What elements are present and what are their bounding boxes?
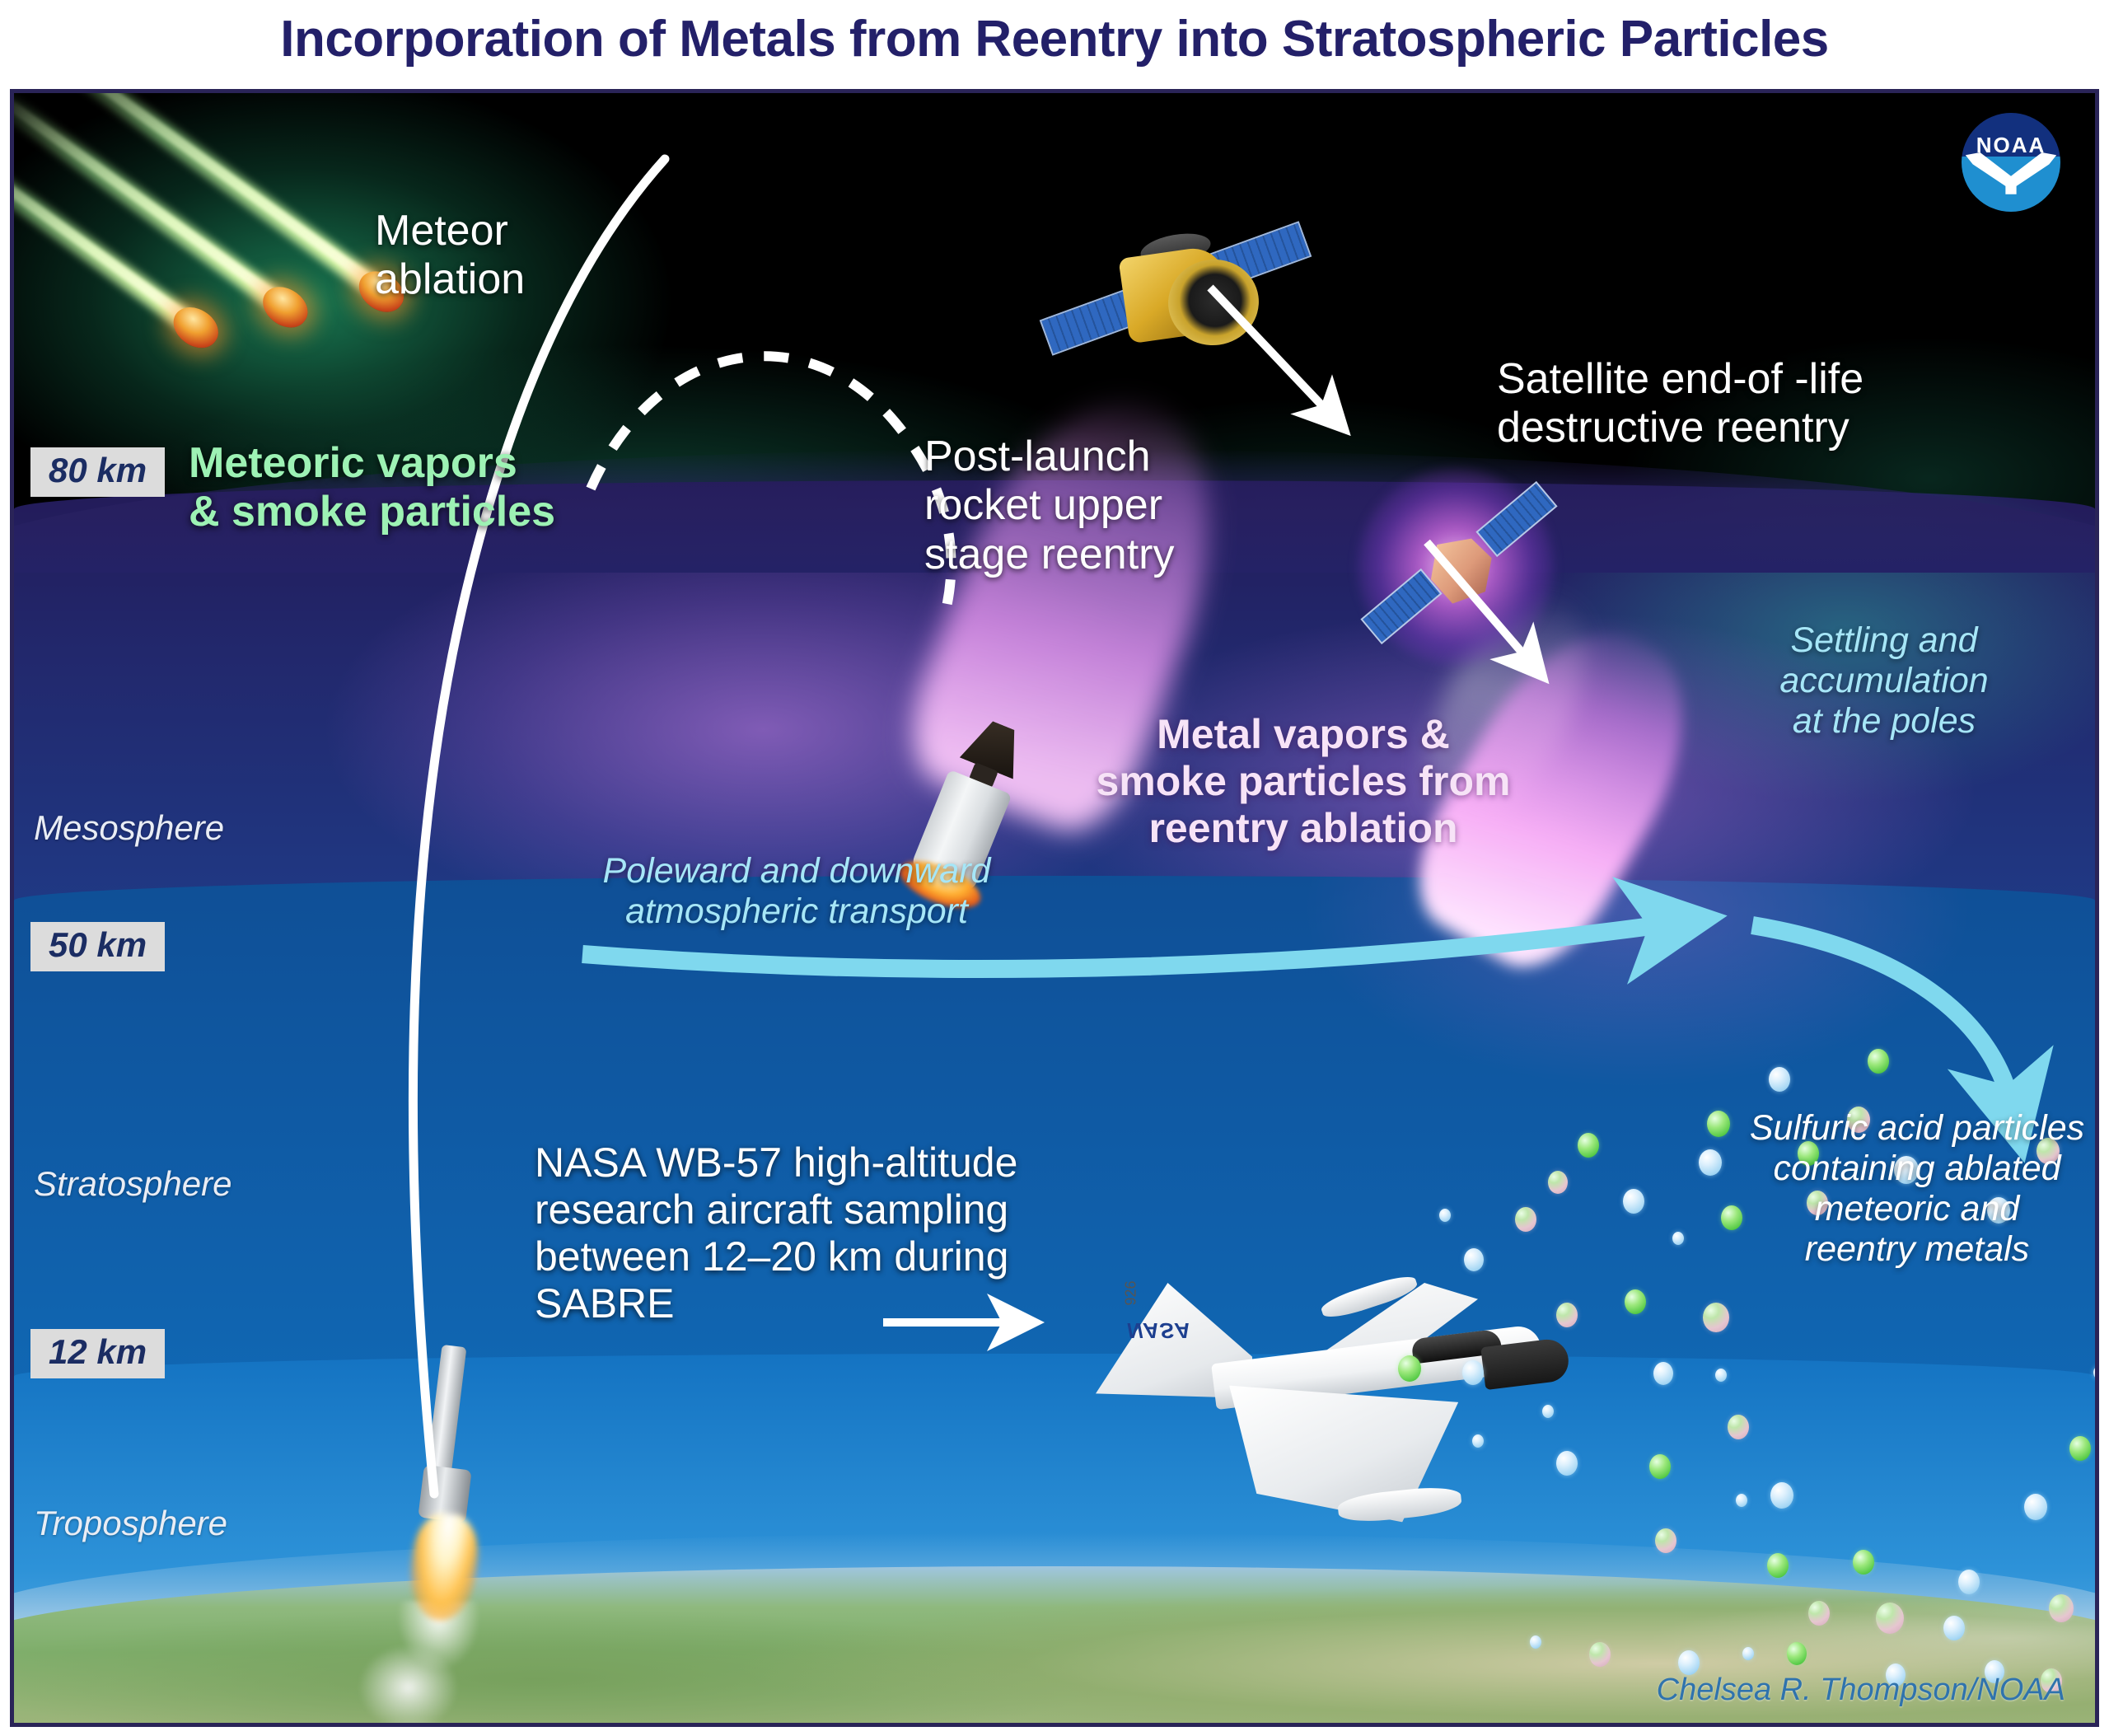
callout-meteor-ablation: Meteor ablation: [375, 207, 525, 305]
arrow-overlay: [14, 93, 2095, 1723]
altitude-label-12km: 12 km: [30, 1329, 165, 1378]
altitude-label-80km: 80 km: [30, 447, 165, 497]
noaa-logo: NOAA: [1962, 113, 2060, 212]
diagram-scene: NASA 926: [10, 89, 2099, 1727]
callout-sulfuric-particles: Sulfuric acid particles containing ablat…: [1744, 1108, 2090, 1270]
layer-name-troposphere: Troposphere: [34, 1504, 227, 1543]
callout-settling: Settling and accumulation at the poles: [1736, 620, 2032, 742]
title-bar: Incorporation of Metals from Reentry int…: [0, 0, 2109, 91]
callout-meteoric-vapors: Meteoric vapors & smoke particles: [189, 439, 555, 537]
altitude-label-50km: 50 km: [30, 922, 165, 971]
image-credit: Chelsea R. Thompson/NOAA: [1657, 1673, 2065, 1708]
page-title: Incorporation of Metals from Reentry int…: [0, 10, 2109, 68]
upper-stage-trajectory-dashed: [591, 356, 951, 620]
satellite-deorbit-arrow: [1210, 288, 1330, 414]
noaa-disc: NOAA: [1962, 113, 2060, 212]
callout-post-launch: Post-launch rocket upper stage reentry: [924, 433, 1175, 579]
callout-metal-vapors: Metal vapors & smoke particles from reen…: [1085, 711, 1522, 852]
callout-aircraft-sampling: NASA WB-57 high-altitude research aircra…: [535, 1139, 1029, 1327]
noaa-seagull-icon: [1966, 152, 2056, 198]
layer-name-mesosphere: Mesosphere: [34, 808, 224, 848]
callout-transport: Poleward and downward atmospheric transp…: [591, 851, 1003, 932]
layer-name-stratosphere: Stratosphere: [34, 1164, 231, 1204]
callout-satellite-reentry: Satellite end-of -life destructive reent…: [1497, 355, 1863, 453]
settling-arrow: [1752, 925, 2012, 1107]
diagram-page: Incorporation of Metals from Reentry int…: [0, 0, 2109, 1736]
reentry-plume-arrow: [1427, 542, 1530, 662]
noaa-logo-text: NOAA: [1962, 133, 2060, 158]
